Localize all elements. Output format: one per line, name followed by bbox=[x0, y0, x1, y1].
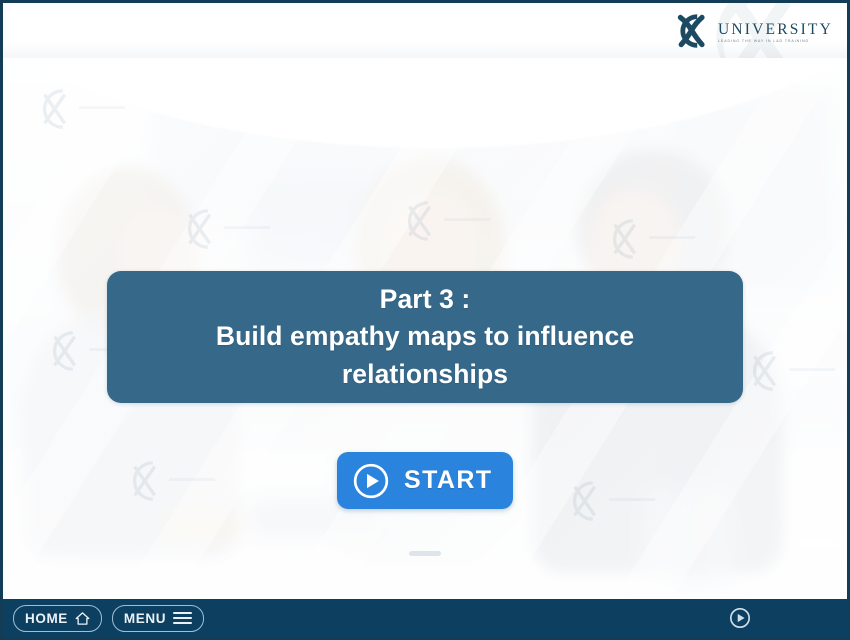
header-bar: UNIVERSITY LEADING THE WAY IN L&D TRAINI… bbox=[3, 3, 847, 58]
hamburger-menu-icon bbox=[173, 612, 192, 625]
title-line-2: Build empathy maps to influence bbox=[129, 318, 721, 356]
home-icon bbox=[75, 611, 90, 626]
menu-button[interactable]: MENU bbox=[112, 605, 204, 632]
logo-tagline: LEADING THE WAY IN L&D TRAINING bbox=[718, 40, 833, 44]
title-line-1: Part 3 : bbox=[129, 281, 721, 319]
home-button-label: HOME bbox=[25, 611, 68, 626]
logo-name: UNIVERSITY bbox=[718, 22, 833, 38]
title-line-3: relationships bbox=[129, 356, 721, 394]
x-university-logo-icon bbox=[674, 11, 714, 51]
course-slide: UNIVERSITY LEADING THE WAY IN L&D TRAINI… bbox=[0, 0, 850, 640]
footer-play-icon[interactable] bbox=[729, 607, 751, 629]
title-banner: Part 3 : Build empathy maps to influence… bbox=[107, 271, 743, 403]
footer-bar: HOME MENU bbox=[3, 599, 847, 637]
title-text: Part 3 : Build empathy maps to influence… bbox=[107, 281, 743, 394]
start-button-label: START bbox=[404, 466, 492, 495]
menu-button-label: MENU bbox=[124, 611, 166, 626]
start-button[interactable]: START bbox=[337, 452, 513, 509]
progress-pip bbox=[409, 551, 441, 556]
play-circle-icon bbox=[352, 462, 390, 500]
university-logo: UNIVERSITY LEADING THE WAY IN L&D TRAINI… bbox=[674, 11, 833, 51]
home-button[interactable]: HOME bbox=[13, 605, 102, 632]
